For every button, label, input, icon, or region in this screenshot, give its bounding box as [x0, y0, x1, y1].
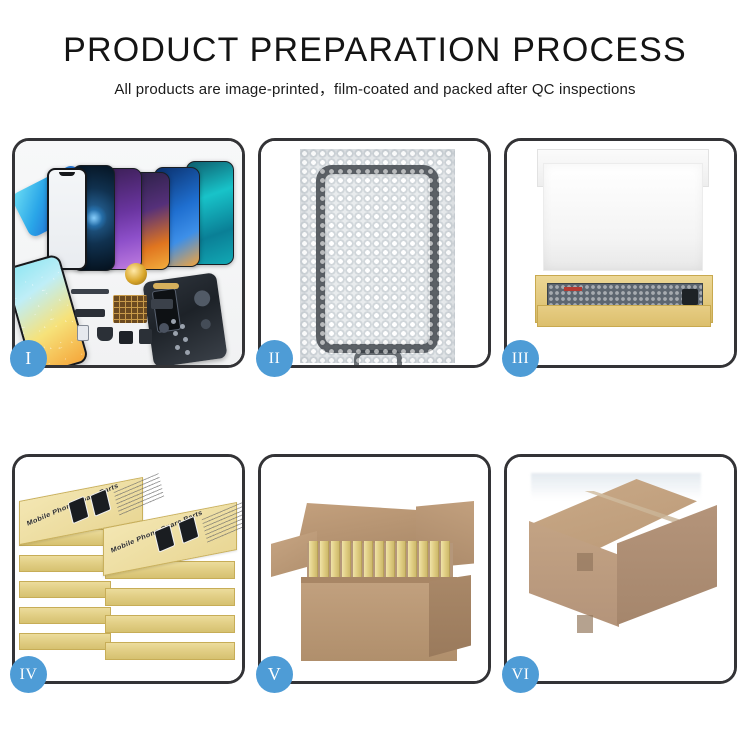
panel-film-coated-screen[interactable]: II [258, 138, 491, 368]
spare-parts-cluster [67, 269, 197, 361]
bubble-wrap-photo [261, 141, 488, 365]
step-badge-4: IV [10, 656, 47, 693]
page-subtitle: All products are image-printed，film-coat… [0, 78, 750, 99]
panel-image-sealed-carton [507, 457, 734, 681]
sealed-carton-photo [507, 457, 734, 681]
process-steps-grid: I II [12, 138, 738, 684]
open-carton-photo [261, 457, 488, 681]
inner-box-photo [507, 141, 734, 365]
box-slab [19, 607, 111, 624]
panel-image-products-overview [15, 141, 242, 365]
box-slab [105, 642, 235, 660]
box-slab [105, 615, 235, 633]
header: PRODUCT PREPARATION PROCESS All products… [0, 32, 750, 99]
vibrator-part-icon [139, 329, 152, 344]
step-badge-2: II [256, 340, 293, 377]
sim-tray-part-icon [77, 325, 89, 341]
box-slab [105, 588, 235, 606]
step-badge-5: V [256, 656, 293, 693]
carton-seam-icon [577, 615, 593, 633]
home-button-part-icon [159, 323, 169, 333]
page-title: PRODUCT PREPARATION PROCESS [0, 32, 750, 69]
step-badge-3: III [502, 340, 539, 377]
carton-side-face [429, 575, 471, 657]
panel-products-overview[interactable]: I [12, 138, 245, 368]
products-photo [15, 141, 242, 365]
box-slab [19, 633, 111, 650]
box-slab [19, 581, 111, 598]
foam-padding-icon [543, 163, 703, 271]
bubble-wrap-sheet-icon [300, 149, 455, 363]
panel-image-stacked-inner-boxes: Mobile Phone Spare Parts Mobile Phone Sp… [15, 457, 242, 681]
panel-image-inner-box-packing [507, 141, 734, 365]
speaker-part-icon [97, 327, 113, 341]
flex-cable-part-icon [71, 289, 109, 294]
panel-sealed-carton[interactable]: VI [504, 454, 737, 684]
panel-inner-box-packing[interactable]: III [504, 138, 737, 368]
step-badge-1: I [10, 340, 47, 377]
stacked-boxes-photo: Mobile Phone Spare Parts Mobile Phone Sp… [15, 457, 242, 681]
panel-image-film-coated-screen [261, 141, 488, 365]
screws-icon [171, 319, 193, 355]
coil-part-icon [125, 263, 147, 285]
carton-handle-notch-icon [577, 553, 593, 571]
gold-connector-part-icon [153, 283, 179, 289]
panel-stacked-inner-boxes[interactable]: Mobile Phone Spare Parts Mobile Phone Sp… [12, 454, 245, 684]
kraft-box-front-icon [537, 305, 711, 327]
camera-module-part-icon [119, 331, 133, 344]
panel-image-carton-filling [261, 457, 488, 681]
phone-screen-outline-icon [316, 165, 439, 353]
small-flex-part-icon [151, 299, 173, 309]
product-preparation-infographic: PRODUCT PREPARATION PROCESS All products… [0, 0, 750, 750]
step-badge-6: VI [502, 656, 539, 693]
box-stack: Mobile Phone Spare Parts Mobile Phone Sp… [19, 471, 237, 677]
box-slab [19, 555, 111, 572]
panel-carton-filling[interactable]: V [258, 454, 491, 684]
bracket-part-icon [75, 309, 105, 317]
chip-grid-part-icon [113, 295, 147, 323]
